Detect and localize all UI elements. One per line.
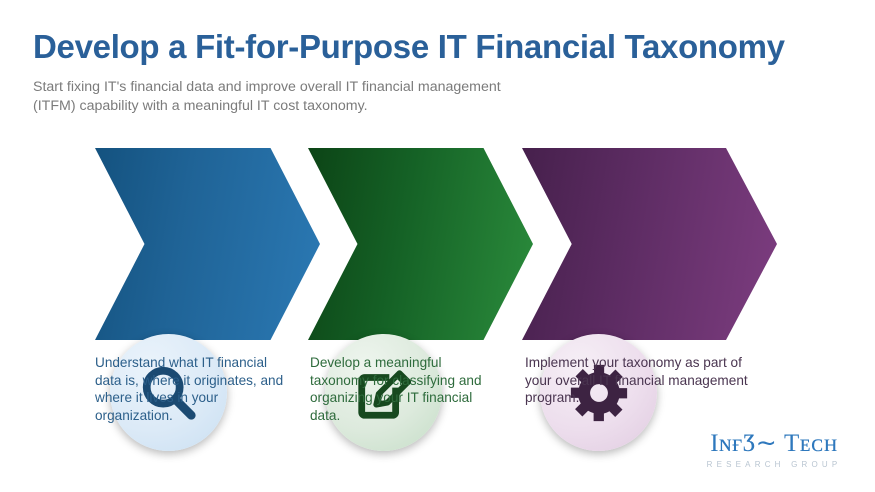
- page-subtitle: Start fixing IT's financial data and imp…: [33, 78, 513, 116]
- process-chevron-band: [0, 148, 875, 343]
- logo-tagline: RESEARCH GROUP: [694, 460, 854, 469]
- process-step-1-chevron: [95, 148, 320, 340]
- step-2-caption: Develop a meaningful taxonomy for classi…: [310, 354, 500, 424]
- company-logo: IɴғӠ∼ Tᴇᴄʜ RESEARCH GROUP: [694, 431, 854, 469]
- step-3-caption: Implement your taxonomy as part of your …: [525, 354, 750, 407]
- logo-wordmark: IɴғӠ∼ Tᴇᴄʜ: [694, 431, 854, 456]
- step-1-caption: Understand what IT financial data is, wh…: [95, 354, 285, 424]
- chevron-shape-blue: [95, 148, 320, 340]
- page-title: Develop a Fit-for-Purpose IT Financial T…: [33, 28, 785, 66]
- process-step-2-chevron: [308, 148, 533, 340]
- chevron-shape-purple: [522, 148, 777, 340]
- chevron-shape-green: [308, 148, 533, 340]
- process-step-3-chevron: [522, 148, 777, 340]
